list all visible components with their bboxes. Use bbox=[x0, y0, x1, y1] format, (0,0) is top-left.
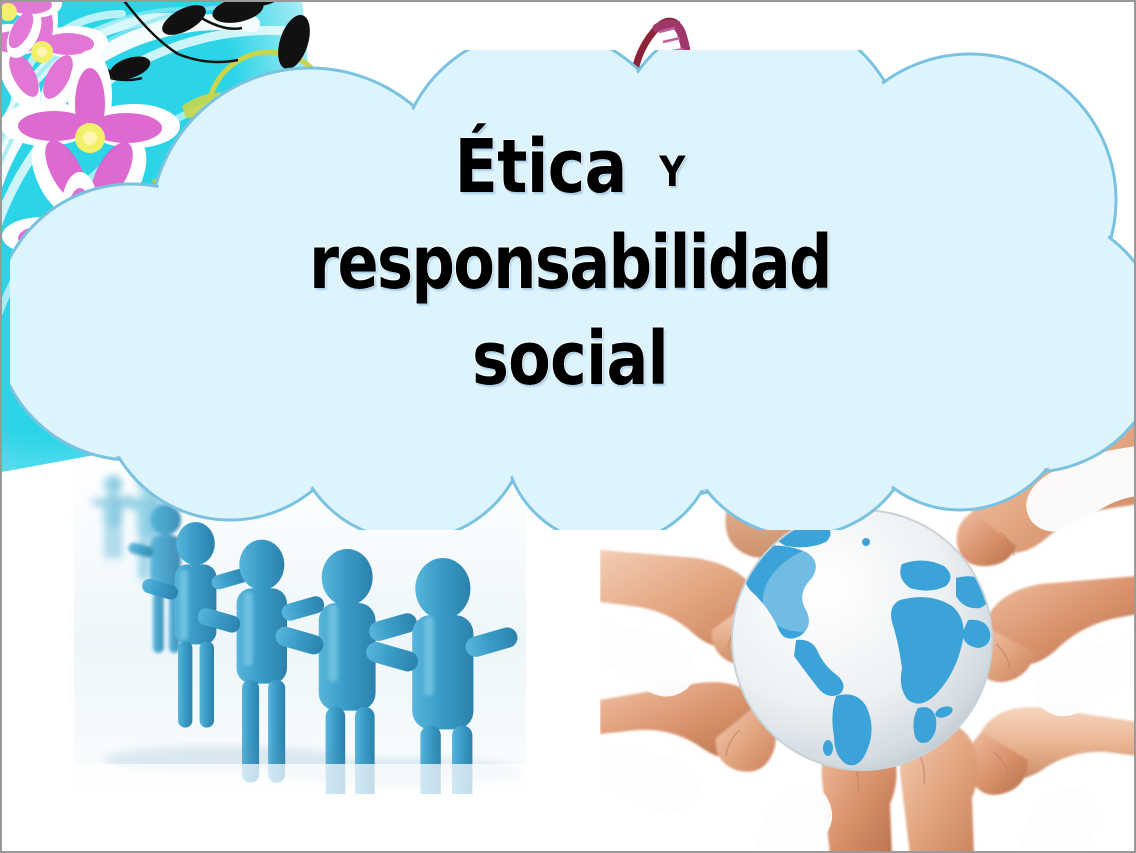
title-word-etica: Ética bbox=[455, 124, 627, 210]
people-holding-hands-image bbox=[74, 460, 526, 794]
quotation-mark-decoration: “ bbox=[8, 332, 50, 424]
title-line-3: social bbox=[93, 322, 1047, 396]
floral-swirl-corner-decoration bbox=[2, 2, 324, 472]
slide-title-block: ÉticaY responsabilidad social bbox=[2, 130, 1136, 396]
title-line-1: ÉticaY bbox=[82, 130, 1059, 204]
title-line-2: responsabilidad bbox=[104, 226, 1036, 300]
title-word-y: Y bbox=[627, 147, 686, 196]
presentation-slide: “ bbox=[0, 0, 1136, 853]
red-ribbon-ornament bbox=[597, 2, 727, 112]
hands-around-globe-image bbox=[600, 400, 1136, 853]
